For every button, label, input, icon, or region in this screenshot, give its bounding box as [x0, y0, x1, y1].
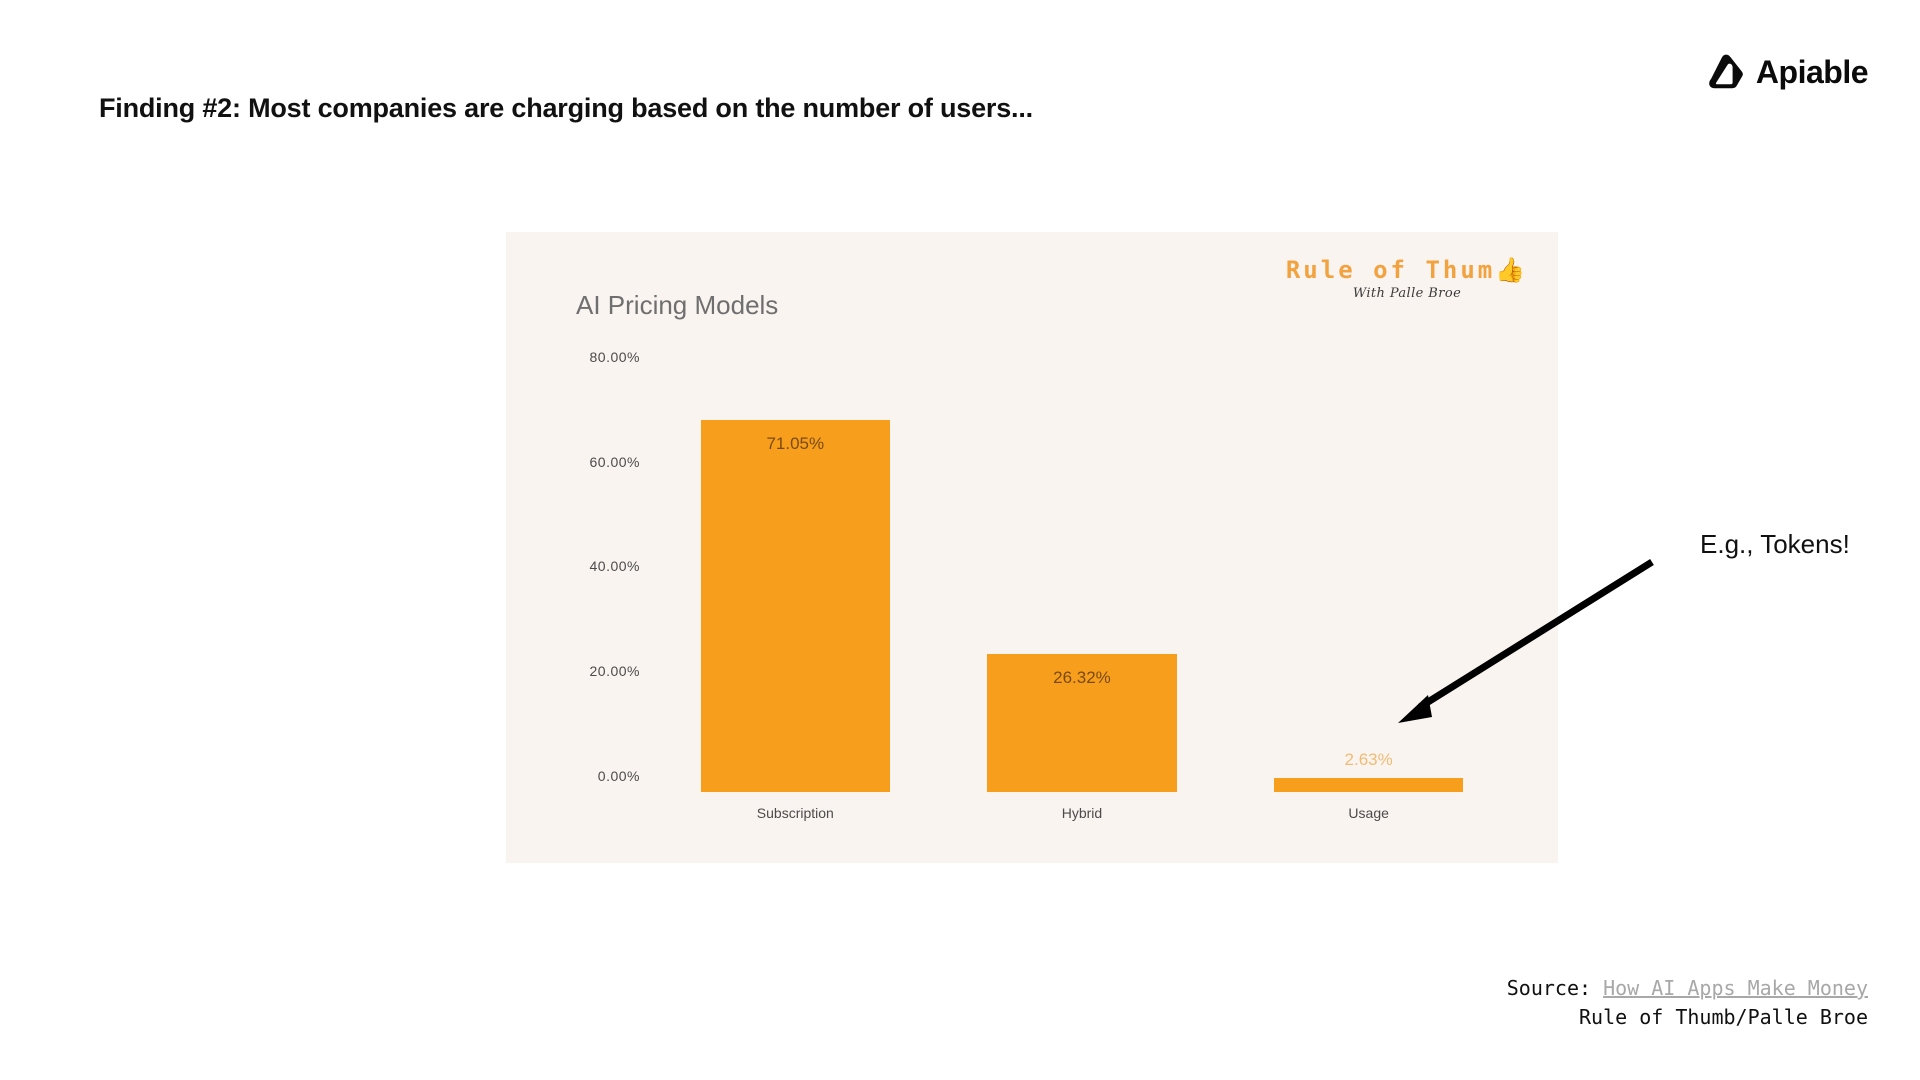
- annotation-label: E.g., Tokens!: [1700, 529, 1850, 560]
- rule-of-thumb-subtitle: With Palle Broe: [1282, 286, 1532, 301]
- y-axis-tick-label: 20.00%: [590, 663, 640, 679]
- brand-logo: Apiable: [1706, 52, 1868, 92]
- rule-of-thumb-badge: Rule of Thum 👍 With Palle Broe: [1282, 256, 1532, 301]
- source-attribution: Rule of Thumb/Palle Broe: [1507, 1003, 1868, 1032]
- brand-name: Apiable: [1756, 54, 1868, 91]
- apiable-logo-icon: [1706, 52, 1746, 92]
- y-axis-tick-label: 40.00%: [590, 558, 640, 574]
- bar-group: 2.63%Usage: [1274, 352, 1463, 792]
- plot-area: 0.00%20.00%40.00%60.00%80.00% 71.05%Subs…: [652, 352, 1512, 792]
- rule-of-thumb-title-text: Rule of Thum: [1286, 256, 1495, 284]
- bar-value-label: 71.05%: [701, 434, 890, 454]
- source-line-primary: Source: How AI Apps Make Money: [1507, 974, 1868, 1003]
- x-axis-category-label: Hybrid: [987, 805, 1176, 821]
- x-axis-category-label: Subscription: [701, 805, 890, 821]
- chart-title: AI Pricing Models: [576, 290, 778, 321]
- y-axis-tick-label: 0.00%: [598, 768, 640, 784]
- bar-group: 71.05%Subscription: [701, 352, 890, 792]
- y-axis-tick-label: 60.00%: [590, 454, 640, 470]
- thumbs-up-icon: 👍: [1495, 258, 1528, 282]
- bar-series: 71.05%Subscription26.32%Hybrid2.63%Usage: [652, 352, 1512, 792]
- y-axis-tick-label: 80.00%: [590, 349, 640, 365]
- page-title: Finding #2: Most companies are charging …: [99, 93, 1033, 124]
- chart-panel: AI Pricing Models Rule of Thum 👍 With Pa…: [506, 232, 1558, 863]
- x-axis-category-label: Usage: [1274, 805, 1463, 821]
- bar-value-label: 2.63%: [1274, 750, 1463, 770]
- bar-group: 26.32%Hybrid: [987, 352, 1176, 792]
- source-label: Source:: [1507, 976, 1591, 1000]
- bar[interactable]: [701, 420, 890, 792]
- bar[interactable]: [1274, 778, 1463, 792]
- bar-value-label: 26.32%: [987, 668, 1176, 688]
- source-link[interactable]: How AI Apps Make Money: [1603, 976, 1868, 1000]
- source-block: Source: How AI Apps Make Money Rule of T…: [1507, 974, 1868, 1032]
- rule-of-thumb-title: Rule of Thum 👍: [1282, 256, 1532, 284]
